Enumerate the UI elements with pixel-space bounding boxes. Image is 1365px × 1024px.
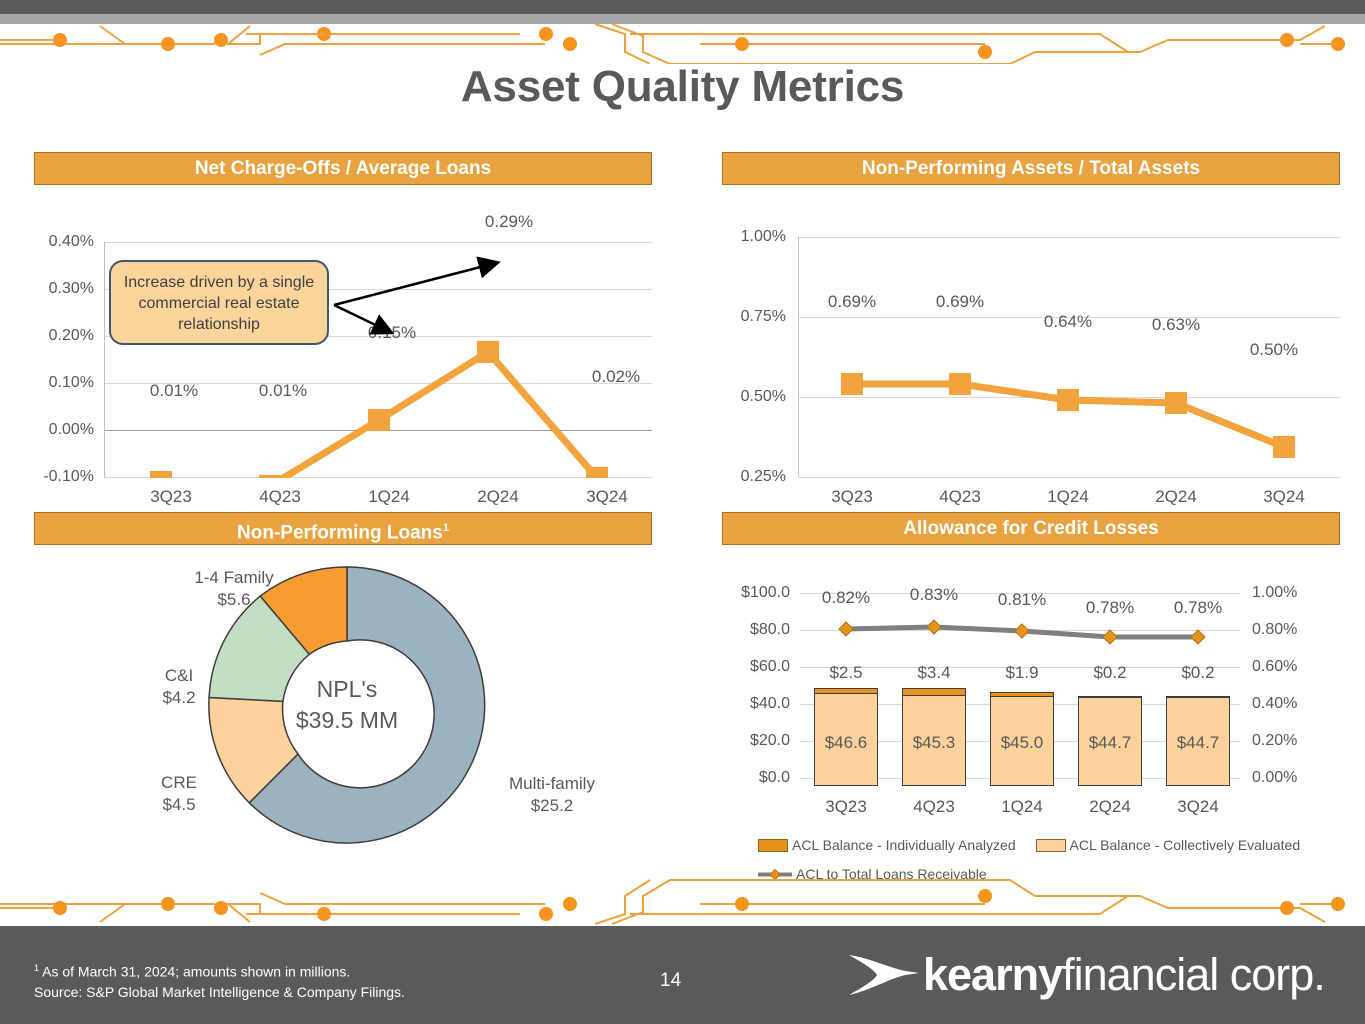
data-label-npa-4: 0.50% — [1234, 340, 1314, 360]
legend-item-individually-analyzed[interactable]: ACL Balance - Individually Analyzed — [758, 837, 1016, 853]
donut-center-label: NPL's $39.5 MM — [272, 674, 422, 736]
y-left-tick-label: $80.0 — [722, 621, 790, 639]
footnote-superscript: 1 — [34, 963, 39, 973]
x-tick-label: 1Q24 — [1018, 487, 1118, 507]
y-tick-label: 0.20% — [34, 327, 94, 345]
pie-label-multi-family: Multi-family $25.2 — [472, 773, 632, 817]
footnote-line-2: Source: S&P Global Market Intelligence &… — [34, 982, 405, 1002]
callout-arrows-svg — [324, 245, 524, 365]
pie-label-value: $4.5 — [134, 794, 224, 816]
slide-root: Asset Quality Metrics Net Charge-Offs / … — [0, 0, 1365, 1024]
x-tick-label: 2Q24 — [1126, 487, 1226, 507]
company-logo: kearnyfinancial corp. — [845, 944, 1325, 1006]
panel-title-npl-text: Non-Performing Loans — [237, 522, 443, 543]
pie-label-name: 1-4 Family — [164, 567, 304, 589]
y-left-tick-label: $100.0 — [722, 584, 790, 602]
x-tick-label: 3Q23 — [121, 487, 221, 507]
x-tick-label: 3Q23 — [802, 487, 902, 507]
acl-ratio-line-svg — [800, 593, 1240, 793]
data-label-npa-0: 0.69% — [812, 292, 892, 312]
x-tick-label: 2Q24 — [1070, 797, 1150, 817]
y-right-tick-label: 0.20% — [1252, 732, 1326, 750]
y-tick-label: 0.30% — [34, 280, 94, 298]
footnote-text-1: As of March 31, 2024; amounts shown in m… — [42, 964, 350, 980]
x-tick-label: 2Q24 — [448, 487, 548, 507]
panel-non-performing-loans: Non-Performing Loans1 NPL's $39.5 MM 1-4… — [34, 512, 652, 885]
pie-label-name: C&I — [134, 665, 224, 687]
y-right-tick-label: 0.60% — [1252, 658, 1326, 676]
footnote-line-1: 1 As of March 31, 2024; amounts shown in… — [34, 958, 405, 982]
panel-non-performing-assets: Non-Performing Assets / Total Assets 1.0… — [722, 152, 1340, 485]
ratio-label-1q24: 0.81% — [982, 590, 1062, 610]
y-right-tick-label: 0.00% — [1252, 769, 1326, 787]
panel-title-npa: Non-Performing Assets / Total Assets — [722, 152, 1340, 185]
legend-swatch-individually-analyzed — [758, 839, 788, 852]
x-tick-label: 3Q23 — [806, 797, 886, 817]
y-right-tick-label: 1.00% — [1252, 584, 1326, 602]
data-label-nco-0: 0.01% — [134, 381, 214, 401]
logo-text-light: financial corp. — [1062, 949, 1325, 1000]
x-tick-label: 1Q24 — [982, 797, 1062, 817]
legend-label-collectively-evaluated: ACL Balance - Collectively Evaluated — [1070, 837, 1301, 853]
y-tick-label: -0.10% — [34, 468, 94, 486]
panel-net-charge-offs: Net Charge-Offs / Average Loans 0.40% 0.… — [34, 152, 652, 485]
data-label-npa-1: 0.69% — [920, 292, 1000, 312]
panel-title-npl: Non-Performing Loans1 — [34, 512, 652, 545]
y-tick-label: 0.00% — [34, 421, 94, 439]
y-tick-label: 0.40% — [34, 233, 94, 251]
logo-wordmark: kearnyfinancial corp. — [923, 949, 1325, 1001]
y-left-tick-label: $20.0 — [722, 732, 790, 750]
pie-label-value: $4.2 — [134, 687, 224, 709]
logo-text-bold: kearny — [923, 949, 1062, 1000]
ratio-label-3q24: 0.78% — [1158, 598, 1238, 618]
x-tick-label: 3Q24 — [557, 487, 657, 507]
data-label-npa-2: 0.64% — [1028, 312, 1108, 332]
footnote: 1 As of March 31, 2024; amounts shown in… — [34, 958, 405, 1002]
pie-label-value: $5.6 — [164, 589, 304, 611]
pie-label-one-four-family: 1-4 Family $5.6 — [164, 567, 304, 611]
x-tick-label: 3Q24 — [1234, 487, 1334, 507]
donut-center-line1: NPL's — [272, 674, 422, 705]
circuit-decoration-bottom — [0, 878, 1365, 926]
x-tick-label: 4Q23 — [894, 797, 974, 817]
pie-label-cre: CRE $4.5 — [134, 772, 224, 816]
y-left-tick-label: $60.0 — [722, 658, 790, 676]
chart-nco: 0.40% 0.30% 0.20% 0.10% 0.00% -0.10% 0.0… — [34, 185, 652, 485]
panel-title-nco: Net Charge-Offs / Average Loans — [34, 152, 652, 185]
y-right-tick-label: 0.80% — [1252, 621, 1326, 639]
y-tick-label: 1.00% — [722, 228, 786, 246]
circuit-decoration-top — [0, 22, 1365, 64]
x-tick-label: 4Q23 — [230, 487, 330, 507]
x-tick-label: 1Q24 — [339, 487, 439, 507]
y-tick-label: 0.10% — [34, 374, 94, 392]
y-tick-label: 0.25% — [722, 468, 786, 486]
y-right-tick-label: 0.40% — [1252, 695, 1326, 713]
pie-label-cni: C&I $4.2 — [134, 665, 224, 709]
legend-swatch-collectively-evaluated — [1036, 839, 1066, 852]
page-title: Asset Quality Metrics — [0, 62, 1365, 112]
ratio-label-3q23: 0.82% — [806, 588, 886, 608]
chart-legend: ACL Balance - Individually Analyzed ACL … — [758, 837, 1316, 855]
legend-label-individually-analyzed: ACL Balance - Individually Analyzed — [792, 837, 1016, 853]
data-label-npa-3: 0.63% — [1136, 315, 1216, 335]
legend-item-collectively-evaluated[interactable]: ACL Balance - Collectively Evaluated — [1036, 837, 1301, 853]
x-tick-label: 4Q23 — [910, 487, 1010, 507]
data-label-nco-1: 0.01% — [243, 381, 323, 401]
y-left-tick-label: $40.0 — [722, 695, 790, 713]
chart-npa: 1.00% 0.75% 0.50% 0.25% 0.69% 0.69% 0.64… — [722, 185, 1340, 485]
panel-title-acl: Allowance for Credit Losses — [722, 512, 1340, 545]
footnote-marker: 1 — [443, 522, 449, 534]
y-tick-label: 0.75% — [722, 308, 786, 326]
data-label-nco-4: 0.02% — [576, 367, 656, 387]
pie-label-name: Multi-family — [472, 773, 632, 795]
chart-acl: $100.0 $80.0 $60.0 $40.0 $20.0 $0.0 1.00… — [722, 545, 1340, 885]
donut-center-line2: $39.5 MM — [272, 705, 422, 736]
pie-label-value: $25.2 — [472, 795, 632, 817]
pie-label-name: CRE — [134, 772, 224, 794]
ratio-label-2q24: 0.78% — [1070, 598, 1150, 618]
x-tick-label: 3Q24 — [1158, 797, 1238, 817]
page-number: 14 — [660, 970, 681, 992]
data-label-nco-3: 0.29% — [469, 212, 549, 232]
callout-box: Increase driven by a single commercial r… — [109, 260, 329, 345]
top-dark-bar — [0, 0, 1365, 14]
chart-npl: NPL's $39.5 MM 1-4 Family $5.6 C&I $4.2 … — [34, 545, 652, 885]
y-left-tick-label: $0.0 — [722, 769, 790, 787]
y-tick-label: 0.50% — [722, 388, 786, 406]
panel-allowance-for-credit-losses: Allowance for Credit Losses $100.0 $80.0… — [722, 512, 1340, 885]
ratio-label-4q23: 0.83% — [894, 585, 974, 605]
kearny-swoosh-icon — [845, 949, 923, 1001]
